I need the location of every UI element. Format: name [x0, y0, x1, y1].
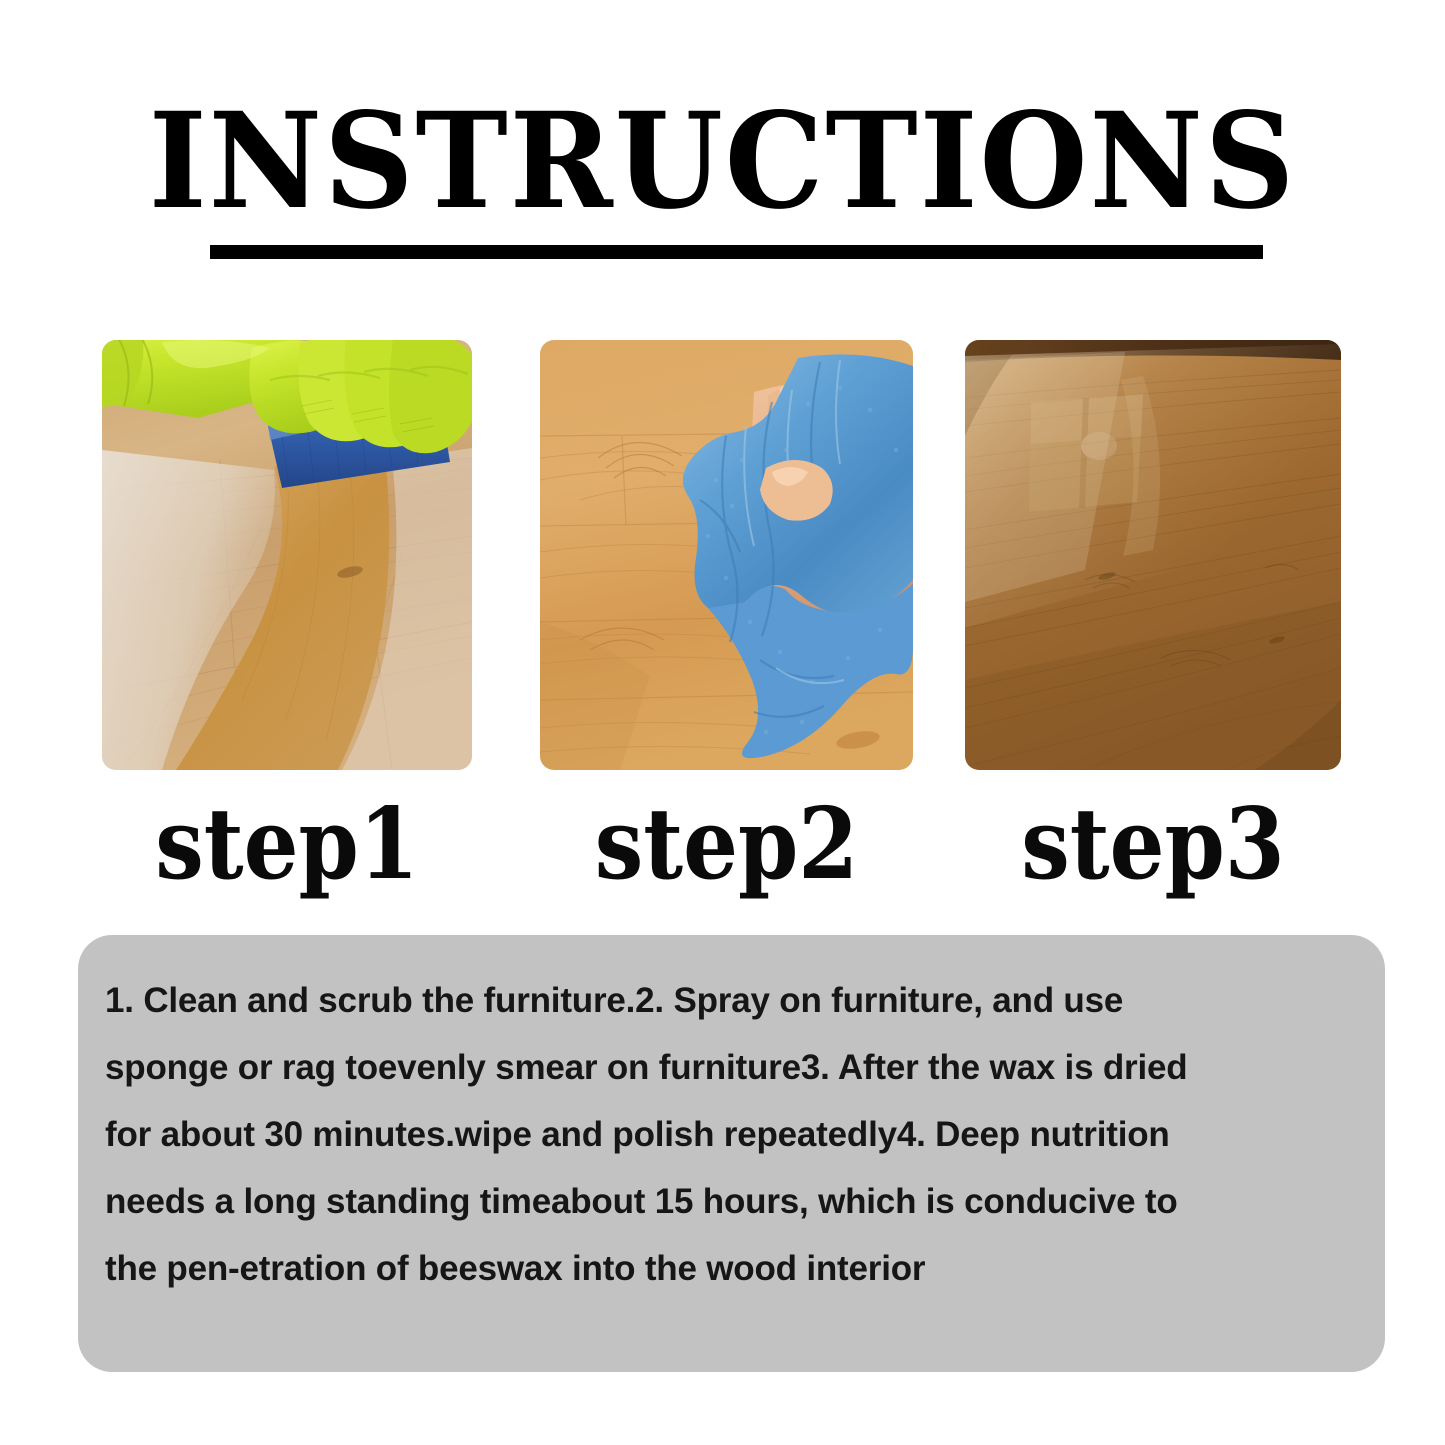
description-line: sponge or rag toevenly smear on furnitur… [105, 1034, 1305, 1101]
polished-wood-photo [965, 340, 1341, 770]
description-text-block: 1. Clean and scrub the furniture.2. Spra… [105, 967, 1305, 1302]
step-label-3: step3 [988, 790, 1319, 900]
step-label-2: step2 [562, 790, 890, 900]
description-line: needs a long standing timeabout 15 hours… [105, 1168, 1305, 1235]
step-image-gallery [102, 340, 1341, 770]
description-line: the pen-etration of beeswax into the woo… [105, 1235, 1305, 1302]
title-underline-rule [210, 245, 1263, 259]
glove-sponge-photo [102, 340, 472, 770]
description-panel: 1. Clean and scrub the furniture.2. Spra… [78, 935, 1385, 1372]
step-label-row: step1 step2 step3 [102, 790, 1341, 910]
step-image-1 [102, 340, 472, 770]
step-image-3 [965, 340, 1341, 770]
page-title-block: INSTRUCTIONS [0, 96, 1445, 228]
step-image-2 [540, 340, 913, 770]
step-label-1: step1 [124, 790, 450, 900]
description-line: 1. Clean and scrub the furniture.2. Spra… [105, 967, 1305, 1034]
hand-cloth-photo [540, 340, 913, 770]
description-line: for about 30 minutes.wipe and polish rep… [105, 1101, 1305, 1168]
page-title: INSTRUCTIONS [43, 96, 1401, 228]
